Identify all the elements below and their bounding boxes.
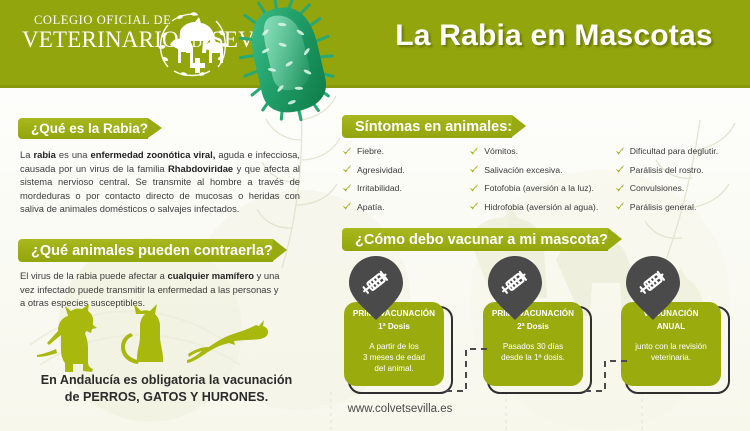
- card-body: Pasados 30 díasdesde la 1ª dosis.: [488, 341, 578, 364]
- ferret-silhouette: [187, 320, 268, 363]
- check-icon: [615, 183, 625, 193]
- check-icon: [615, 146, 625, 156]
- check-icon: [469, 164, 479, 174]
- check-icon: [615, 201, 625, 211]
- symptom-label: Fotofobia (aversión a la luz).: [484, 182, 594, 194]
- symptom-item: Apatía.: [342, 201, 469, 213]
- symptom-item: Salivación excesiva.: [469, 164, 614, 176]
- website-url[interactable]: www.colvetsevilla.es: [300, 403, 500, 415]
- horse-dog-cat-caduceus-emblem: [150, 11, 236, 77]
- section-banner-animales: ¿Qué animales pueden contraerla?: [18, 239, 273, 262]
- check-icon: [615, 164, 625, 174]
- symptom-item: Fiebre.: [342, 145, 469, 157]
- symptom-item: Agresividad.: [342, 164, 469, 176]
- symptom-label: Irritabilidad.: [357, 182, 402, 194]
- symptom-label: Salivación excesiva.: [484, 164, 562, 176]
- symptoms-column-2: Vómitos.Salivación excesiva.Fotofobia (a…: [469, 145, 614, 219]
- symptom-item: Hidrofobia (aversión al agua).: [469, 201, 614, 213]
- vaccination-steps: PRIMOVACUNACIÓN 1ª Dosis A partir de los…: [336, 255, 746, 395]
- check-icon: [469, 183, 479, 193]
- symptoms-columns: Fiebre.Agresividad.Irritabilidad.Apatía.…: [342, 145, 742, 219]
- syringe-pin-icon-3: [625, 255, 681, 321]
- symptom-label: Convulsiones.: [630, 182, 685, 194]
- symptom-label: Apatía.: [357, 201, 385, 213]
- card-body: junto con la revisiónveterinaria.: [626, 341, 716, 364]
- card-subtitle: 1ª Dosis: [349, 321, 439, 332]
- syringe-pin-icon-1: [348, 255, 404, 321]
- infographic-poster: COLEGIO OFICIAL DE VETERINARIOSDESEVILLA: [0, 0, 750, 431]
- check-icon: [469, 146, 479, 156]
- animal-silhouettes-group: [22, 302, 282, 372]
- footer-statement-line-2: de PERROS, GATOS Y HURONES.: [14, 389, 319, 406]
- symptom-label: Fiebre.: [357, 145, 384, 157]
- symptoms-column-3: Dificultad para deglutir.Parálisis del r…: [615, 145, 742, 219]
- symptom-label: Hidrofobia (aversión al agua).: [484, 201, 598, 213]
- symptom-item: Dificultad para deglutir.: [615, 145, 742, 157]
- symptom-label: Agresividad.: [357, 164, 405, 176]
- syringe-pin-icon-2: [487, 255, 543, 321]
- section-banner-sintomas: Síntomas en animales:: [342, 115, 512, 138]
- rhabdovirus-particle-icon: [228, 0, 348, 124]
- symptom-item: Fotofobia (aversión a la luz).: [469, 182, 614, 194]
- footer-statement-line-1: En Andalucía es obligatoria la vacunació…: [14, 372, 319, 389]
- check-icon: [342, 183, 352, 193]
- check-icon: [469, 201, 479, 211]
- symptom-label: Dificultad para deglutir.: [630, 145, 718, 157]
- page-title: La Rabia en Mascotas: [375, 19, 733, 53]
- symptom-item: Convulsiones.: [615, 182, 742, 194]
- footer-statement: En Andalucía es obligatoria la vacunació…: [14, 372, 319, 405]
- check-icon: [342, 164, 352, 174]
- symptom-label: Parálisis del rostro.: [630, 164, 704, 176]
- symptom-item: Parálisis del rostro.: [615, 164, 742, 176]
- symptom-label: Parálisis general.: [630, 201, 697, 213]
- dog-silhouette: [37, 304, 97, 372]
- symptom-item: Irritabilidad.: [342, 182, 469, 194]
- section-banner-que-es: ¿Qué es la Rabia?: [18, 118, 148, 139]
- section-banner-vacunar: ¿Cómo debo vacunar a mi mascota?: [342, 228, 608, 251]
- symptom-item: Parálisis general.: [615, 201, 742, 213]
- card-subtitle: ANUAL: [626, 321, 716, 332]
- paragraph-que-es: La rabia es una enfermedad zoonótica vir…: [20, 148, 300, 216]
- symptom-label: Vómitos.: [484, 145, 518, 157]
- cat-silhouette: [121, 304, 163, 364]
- symptoms-column-1: Fiebre.Agresividad.Irritabilidad.Apatía.: [342, 145, 469, 219]
- check-icon: [342, 201, 352, 211]
- card-subtitle: 2ª Dosis: [488, 321, 578, 332]
- check-icon: [342, 146, 352, 156]
- card-body: A partir de los3 meses de edaddel animal…: [349, 341, 439, 375]
- symptom-item: Vómitos.: [469, 145, 614, 157]
